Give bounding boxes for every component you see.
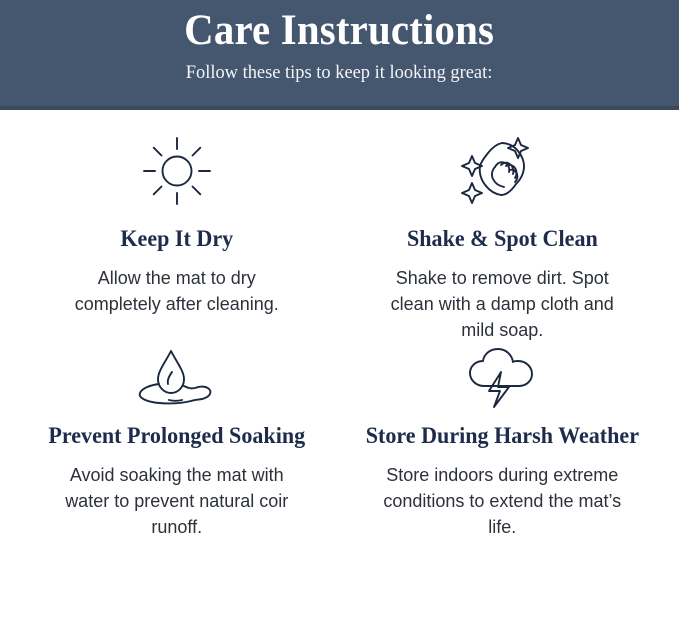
care-tip-body: Avoid soaking the mat with water to prev… (57, 462, 297, 540)
care-tip-body: Shake to remove dirt. Spot clean with a … (382, 265, 622, 343)
care-tip-title: Keep It Dry (120, 224, 233, 254)
care-tips-grid: Keep It Dry Allow the mat to dry complet… (0, 110, 679, 540)
care-tip-title: Prevent Prolonged Soaking (48, 421, 305, 451)
care-tip-keep-it-dry: Keep It Dry Allow the mat to dry complet… (14, 132, 340, 343)
care-instructions-banner: Care Instructions Follow these tips to k… (0, 0, 679, 110)
care-tip-shake-and-spot-clean: Shake & Spot Clean Shake to remove dirt.… (340, 132, 666, 343)
care-tip-store-during-harsh-weather: Store During Harsh Weather Store indoors… (340, 343, 666, 540)
care-tip-body: Store indoors during extreme conditions … (382, 462, 622, 540)
care-tip-prevent-prolonged-soaking: Prevent Prolonged Soaking Avoid soaking … (14, 343, 340, 540)
storm-cloud-lightning-icon (464, 343, 540, 413)
care-tip-title: Store During Harsh Weather (366, 421, 639, 451)
page-title: Care Instructions (185, 6, 495, 56)
care-tip-title: Shake & Spot Clean (407, 224, 598, 254)
care-tip-body: Allow the mat to dry completely after cl… (57, 265, 297, 317)
sun-icon (140, 132, 214, 210)
washing-hands-sparkle-icon (461, 132, 543, 210)
water-droplet-puddle-icon (133, 343, 221, 413)
page-subtitle: Follow these tips to keep it looking gre… (186, 60, 493, 86)
